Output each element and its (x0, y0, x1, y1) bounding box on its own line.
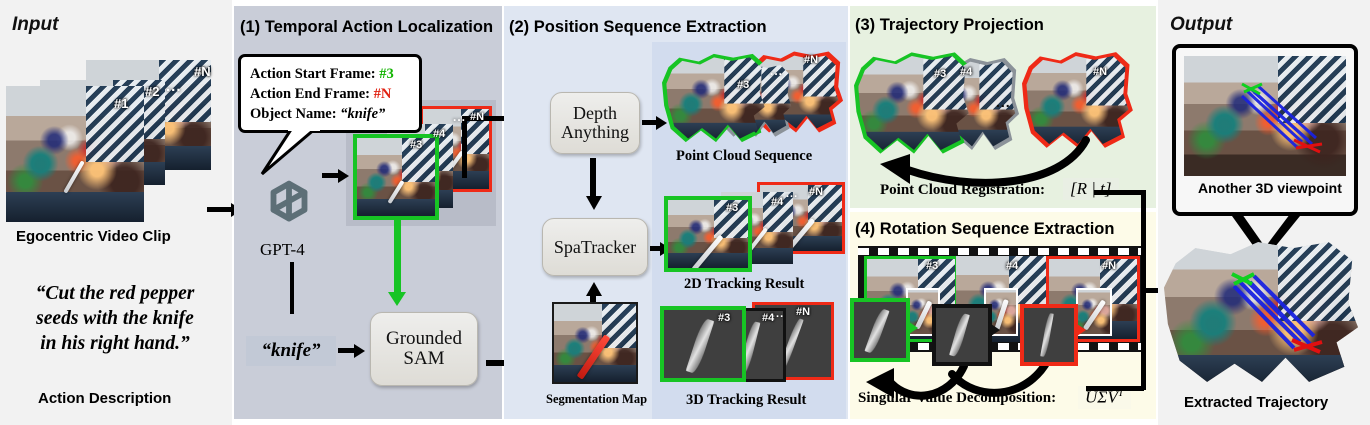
grounded-sam-line-1: Grounded (386, 329, 462, 349)
panel1-frame-3-tag: #3 (410, 139, 422, 151)
connector-reg-right (1094, 190, 1146, 195)
panel4-title: (4) Rotation Sequence Extraction (855, 220, 1114, 239)
panel3-title: (3) Trajectory Projection (855, 16, 1044, 35)
callout-end-frame: Action End Frame: #N (250, 84, 410, 104)
projection-frame-N-tag: #N (1093, 66, 1107, 78)
spatracker-label: SpaTracker (554, 238, 636, 257)
input-frames-ellipsis: ... (166, 78, 182, 95)
elbow-vertical-to-depth (462, 116, 467, 178)
panel1-frame-4-tag: #4 (433, 128, 445, 140)
callout-start-frame: Action Start Frame: #3 (250, 64, 410, 84)
callout-end-value: #N (374, 86, 392, 102)
projection-ellipsis: ... (996, 94, 1011, 110)
arrow-crop3-to-seg (906, 320, 918, 336)
registration-arrow-icon (864, 126, 1104, 188)
instruction-line-3: in his right hand.” (6, 332, 224, 357)
video-clip-caption: Egocentric Video Clip (16, 228, 171, 245)
openai-logo-icon (258, 174, 320, 236)
instruction-line-1: “Cut the red pepper (6, 282, 224, 307)
object-name-chip: “knife” (246, 336, 336, 366)
grounded-sam-node[interactable]: Grounded SAM (370, 312, 478, 386)
callout-tail-icon (258, 126, 326, 180)
grounded-sam-line-2: SAM (386, 349, 462, 369)
pointcloud-ellipsis: ... (770, 64, 783, 78)
panel-trajectory-projection: (3) Trajectory Projection #N ... #3 (850, 6, 1156, 208)
pointcloud-frame-3 (662, 50, 770, 146)
output-panel: Output Another 3D viewpo (1158, 0, 1370, 425)
panel-temporal-action-localization: (1) Temporal Action Localization #N #4 .… (234, 6, 502, 419)
depth-anything-line-1: Depth (561, 104, 629, 123)
tracking2d-frame-N-tag: #N (809, 186, 823, 198)
another-viewpoint-render (1184, 56, 1346, 176)
extracted-trajectory-render (1164, 236, 1360, 388)
extracted-trajectory-caption: Extracted Trajectory (1184, 394, 1328, 411)
tracking2d-frame-4-tag: #4 (771, 196, 783, 208)
gpt-output-callout: Action Start Frame: #3 Action End Frame:… (238, 54, 422, 133)
output-heading: Output (1170, 14, 1232, 36)
panel1-frames-ellipsis: ... (453, 110, 466, 124)
panel1-frame-N-tag: #N (470, 111, 484, 123)
action-description-caption: Action Description (38, 390, 171, 407)
panel1-frame-3 (353, 134, 439, 220)
callout-end-label: Action End Frame: (250, 86, 370, 102)
input-frame-2-tag: #2 (145, 84, 159, 99)
callout-object-value: “knife” (340, 106, 385, 122)
panel2-title: (2) Position Sequence Extraction (509, 18, 767, 37)
arrow-crop4-to-seg (988, 322, 1000, 338)
instruction-line-2: seeds with the knife (6, 307, 224, 332)
callout-object-label: Object Name: (250, 106, 337, 122)
point-cloud-sequence-caption: Point Cloud Sequence (676, 148, 812, 165)
projection-frame-3-tag: #3 (934, 68, 946, 80)
depth-anything-line-2: Anything (561, 123, 629, 142)
trajectory-lines-top (1184, 56, 1346, 176)
input-panel: Input #N ... #2 #1 Egocentric Video Clip… (0, 0, 232, 425)
connector-svd-right (1086, 386, 1144, 391)
trajectory-lines-bottom (1164, 236, 1360, 388)
tracking2d-ellipsis: ... (786, 188, 798, 200)
rotation-seg-4 (932, 304, 992, 366)
input-frame-N-tag: #N (194, 64, 211, 79)
tracking2d-frame-3 (664, 196, 752, 272)
projection-frame-4-tag: #4 (960, 66, 972, 78)
rotation-frame-3-tag: #3 (926, 260, 938, 272)
tracking3d-frame-3 (660, 306, 746, 382)
input-heading: Input (12, 14, 58, 36)
pointcloud-frame-N-tag: #N (804, 54, 818, 66)
rotation-frame-N-tag: #N (1102, 260, 1116, 272)
tracking3d-frame-N-tag: #N (796, 306, 810, 318)
panel1-title: (1) Temporal Action Localization (240, 18, 493, 37)
callout-start-value: #3 (379, 66, 394, 82)
tracking-3d-caption: 3D Tracking Result (686, 392, 806, 409)
depth-anything-node[interactable]: Depth Anything (550, 92, 640, 154)
gpt-to-chip-connector (290, 262, 294, 314)
tracking2d-frame-3-tag: #3 (726, 202, 738, 214)
instruction-quote: “Cut the red pepper seeds with the knife… (6, 282, 224, 357)
another-viewpoint-caption: Another 3D viewpoint (1198, 180, 1342, 196)
pipeline-figure: Input #N ... #2 #1 Egocentric Video Clip… (0, 0, 1370, 425)
rotation-frame-4-tag: #4 (1006, 260, 1018, 272)
rotation-seg-N (1020, 304, 1078, 366)
rotation-seg-3 (850, 298, 910, 362)
arrow-cropN-to-seg (1074, 322, 1086, 338)
segmentation-map-caption: Segmentation Map (546, 392, 647, 407)
pointcloud-frame-3-tag: #3 (737, 79, 749, 91)
segmentation-map-thumb (552, 302, 638, 384)
tracking3d-frame-3-tag: #3 (718, 312, 730, 324)
tracking3d-frame-4-tag: #4 (762, 312, 774, 324)
tracking-2d-caption: 2D Tracking Result (684, 276, 804, 293)
panel-position-sequence-extraction: (2) Position Sequence Extraction Depth A… (504, 6, 848, 419)
input-frame-1-tag: #1 (114, 96, 128, 111)
another-viewpoint-box: Another 3D viewpoint (1172, 44, 1358, 216)
callout-start-label: Action Start Frame: (250, 66, 376, 82)
spatracker-node[interactable]: SpaTracker (542, 218, 648, 276)
gpt4-label: GPT-4 (260, 240, 305, 260)
callout-object-name: Object Name: “knife” (250, 104, 410, 124)
